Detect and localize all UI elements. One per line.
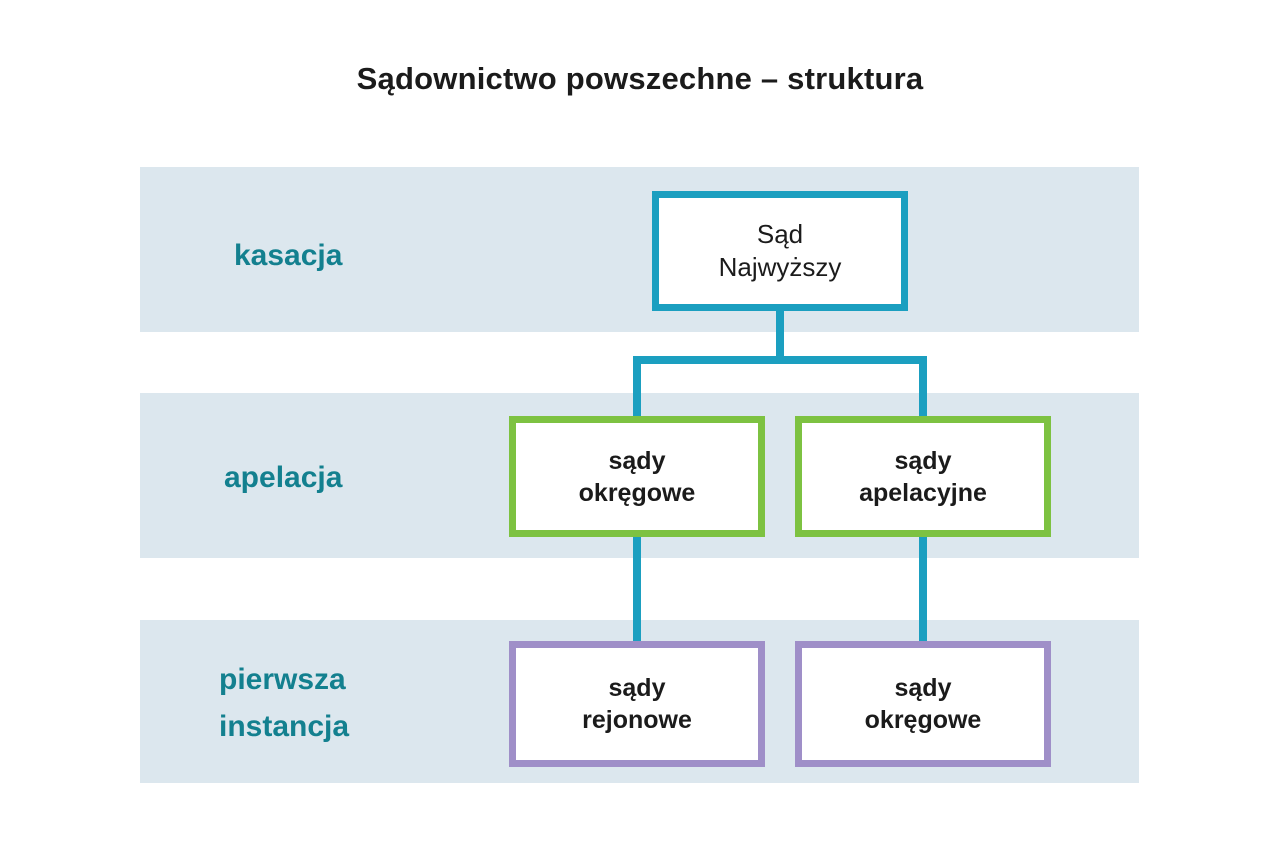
stage-label-apelacja: apelacja xyxy=(224,455,342,502)
node-sady-apelacyjne: sądy apelacyjne xyxy=(795,416,1051,537)
node-sady-okregowe-pierwsza-instancja: sądy okręgowe xyxy=(795,641,1051,767)
node-sad-najwyzszy: Sąd Najwyższy xyxy=(652,191,908,311)
node-sady-rejonowe: sądy rejonowe xyxy=(509,641,765,767)
connector-branch-bar xyxy=(633,356,927,364)
page-title: Sądownictwo powszechne – struktura xyxy=(0,60,1280,97)
connector-branch-to-sady-okregowe xyxy=(633,356,641,420)
stage-label-kasacja: kasacja xyxy=(234,233,342,280)
connector-apelacyjne-to-okregowe xyxy=(919,533,927,645)
stage-label-pierwsza-instancja: pierwsza instancja xyxy=(219,657,349,750)
diagram-canvas: Sądownictwo powszechne – struktura kasac… xyxy=(0,0,1280,854)
node-sady-okregowe-apelacja: sądy okręgowe xyxy=(509,416,765,537)
connector-branch-to-sady-apelacyjne xyxy=(919,356,927,420)
connector-okregowe-to-rejonowe xyxy=(633,533,641,645)
